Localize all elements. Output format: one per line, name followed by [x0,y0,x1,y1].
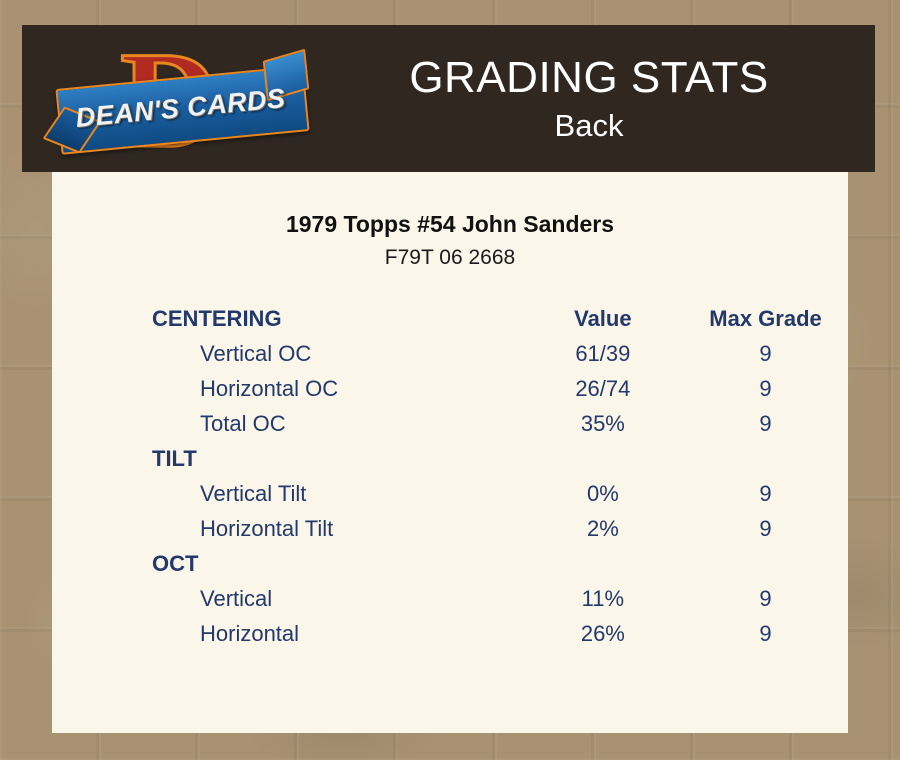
stat-label: Horizontal Tilt [52,511,523,546]
stat-value: 0% [523,476,683,511]
table-row: Vertical OC61/399 [52,336,848,371]
stat-value: 61/39 [523,336,683,371]
stats-group-value-spacer [523,441,683,476]
stats-group-label: CENTERING [52,301,523,336]
stat-max-grade: 9 [683,406,848,441]
stats-group-row: OCT [52,546,848,581]
card-title: 1979 Topps #54 John Sanders [52,210,848,238]
table-row: Horizontal Tilt2%9 [52,511,848,546]
stats-group-row: TILT [52,441,848,476]
stat-value: 35% [523,406,683,441]
stat-max-grade: 9 [683,371,848,406]
stats-group-label: OCT [52,546,523,581]
deans-cards-logo: D DEAN'S CARDS [58,33,303,163]
stat-label: Vertical [52,581,523,616]
table-row: Total OC35%9 [52,406,848,441]
table-row: Horizontal OC26/749 [52,371,848,406]
page-subtitle: Back [555,106,624,146]
stats-group-grade-spacer [683,546,848,581]
stats-group-grade-spacer [683,441,848,476]
content-panel: 1979 Topps #54 John Sanders F79T 06 2668… [52,172,848,733]
stat-label: Horizontal [52,616,523,651]
card-serial-number: F79T 06 2668 [52,245,848,271]
stat-max-grade: 9 [683,581,848,616]
header-bar: D DEAN'S CARDS GRADING STATS Back [22,25,875,172]
stats-group-label: TILT [52,441,523,476]
grading-stats-table: CENTERINGValueMax GradeVertical OC61/399… [52,301,848,651]
stat-value: 26/74 [523,371,683,406]
stat-label: Vertical OC [52,336,523,371]
column-header-max-grade: Max Grade [683,301,848,336]
stat-value: 11% [523,581,683,616]
stat-max-grade: 9 [683,336,848,371]
table-row: Horizontal26%9 [52,616,848,651]
page-title: GRADING STATS [409,52,768,104]
table-row: Vertical Tilt0%9 [52,476,848,511]
stat-label: Horizontal OC [52,371,523,406]
stat-value: 26% [523,616,683,651]
stat-value: 2% [523,511,683,546]
logo-ribbon-text: DEAN'S CARDS [56,66,306,149]
stat-max-grade: 9 [683,616,848,651]
stat-max-grade: 9 [683,511,848,546]
column-header-value: Value [523,301,683,336]
header-titles: GRADING STATS Back [303,25,875,172]
stat-max-grade: 9 [683,476,848,511]
table-row: Vertical11%9 [52,581,848,616]
stats-group-value-spacer [523,546,683,581]
stats-group-row: CENTERINGValueMax Grade [52,301,848,336]
stat-label: Total OC [52,406,523,441]
stat-label: Vertical Tilt [52,476,523,511]
